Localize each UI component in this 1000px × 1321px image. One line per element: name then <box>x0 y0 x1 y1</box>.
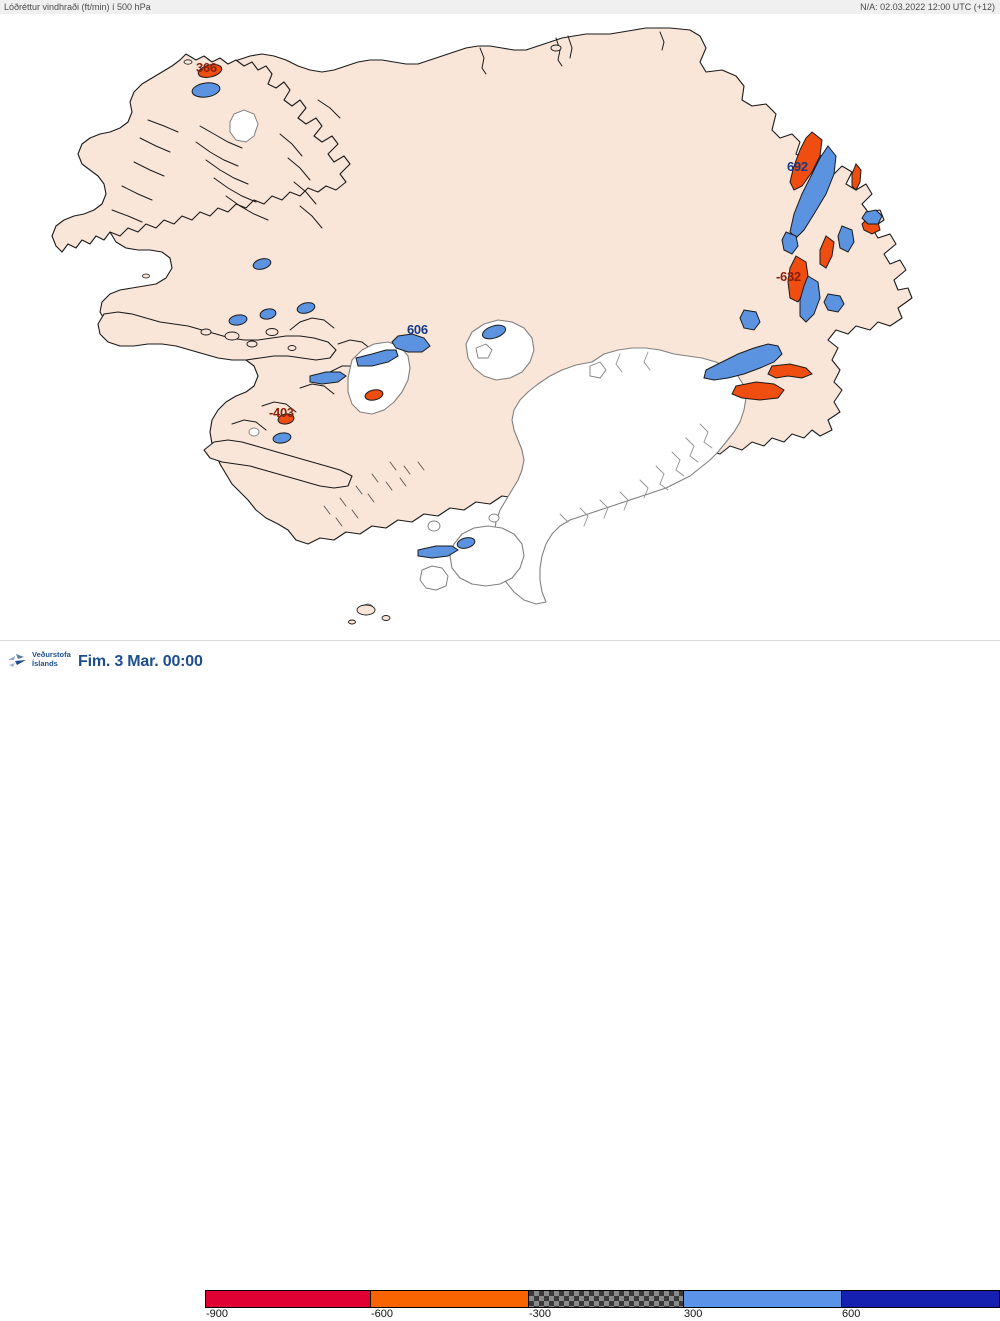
map-canvas[interactable]: 366 692 -632 606 -403 <box>0 14 1000 640</box>
scale-swatch-darkblue <box>842 1291 999 1307</box>
color-scale-bar <box>205 1290 1000 1308</box>
page-title: Lóðréttur vindhraði (ft/min) í 500 hPa <box>4 1 151 13</box>
grimsey-island <box>551 45 561 51</box>
scale-swatch-orange <box>371 1291 529 1307</box>
value-label-ne-positive: 692 <box>787 159 808 174</box>
valid-time-label: Fim. 3 Mar. 00:00 <box>78 653 203 671</box>
header-bar: Lóðréttur vindhraði (ft/min) í 500 hPa N… <box>0 0 1000 14</box>
myrdalsjokull-glacier <box>450 526 524 586</box>
color-scale-ticks: -900 -600 -300 300 600 <box>205 1308 1000 1321</box>
iceland-map-svg <box>0 14 1000 640</box>
logo-text-line2: Íslands <box>32 660 58 669</box>
scale-tick-3: 300 <box>684 1308 702 1320</box>
scale-swatch-transparent <box>529 1291 684 1307</box>
scale-swatch-lightblue <box>684 1291 842 1307</box>
value-label-ne-negative: -632 <box>776 269 801 284</box>
scale-tick-4: 600 <box>842 1308 860 1320</box>
weather-map-page: Lóðréttur vindhraði (ft/min) í 500 hPa N… <box>0 0 1000 680</box>
value-label-nw: 366 <box>196 60 217 75</box>
eyjafjallajokull-glacier <box>420 566 448 590</box>
wind-arrow-icon <box>6 651 30 671</box>
footer-legend-bar: Veðurstofa Íslands Fim. 3 Mar. 00:00 -90… <box>0 640 1000 680</box>
value-label-sw: -403 <box>269 405 294 420</box>
run-timestamp: N/A: 02.03.2022 12:00 UTC (+12) <box>860 1 995 13</box>
scale-tick-1: -600 <box>371 1308 393 1320</box>
scale-swatch-crimson <box>206 1291 371 1307</box>
scale-tick-0: -900 <box>206 1308 228 1320</box>
vedurstofa-logo[interactable]: Veðurstofa Íslands <box>6 649 78 673</box>
value-label-central: 606 <box>407 322 428 337</box>
scale-tick-2: -300 <box>529 1308 551 1320</box>
